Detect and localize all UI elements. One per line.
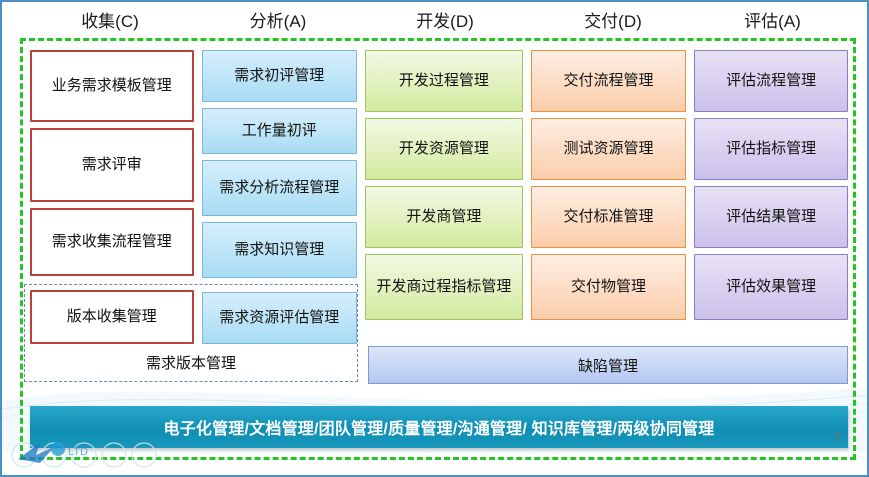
column-header-assess: 评估(A) [696, 8, 849, 36]
column-headers: 收集(C) 分析(A) 开发(D) 交付(D) 评估(A) [24, 8, 849, 36]
column-collect: 业务需求模板管理 需求评审 需求收集流程管理 版本收集管理 [30, 50, 194, 390]
card-develop-0[interactable]: 开发过程管理 [365, 50, 523, 112]
card-develop-1[interactable]: 开发资源管理 [365, 118, 523, 180]
card-analyze-0[interactable]: 需求初评管理 [202, 50, 358, 102]
defect-management-bar[interactable]: 缺陷管理 [368, 346, 848, 384]
column-analyze: 需求初评管理 工作量初评 需求分析流程管理 需求知识管理 需求资源评估管理 [202, 50, 358, 390]
foundation-banner: 电子化管理/文档管理/团队管理/质量管理/沟通管理/ 知识库管理/两级协同管理 [30, 406, 848, 448]
card-assess-3[interactable]: 评估效果管理 [694, 254, 848, 320]
capability-board: 业务需求模板管理 需求评审 需求收集流程管理 版本收集管理 需求初评管理 工作量… [30, 50, 848, 390]
card-collect-3[interactable]: 版本收集管理 [30, 290, 194, 344]
card-analyze-3[interactable]: 需求知识管理 [202, 222, 358, 278]
card-develop-3[interactable]: 开发商过程指标管理 [365, 254, 523, 320]
card-collect-0[interactable]: 业务需求模板管理 [30, 50, 194, 122]
card-deliver-0[interactable]: 交付流程管理 [531, 50, 687, 112]
card-analyze-1[interactable]: 工作量初评 [202, 108, 358, 154]
column-header-analyze: 分析(A) [196, 8, 360, 36]
version-management-group-label: 需求版本管理 [24, 347, 358, 377]
column-assess: 评估流程管理 评估指标管理 评估结果管理 评估效果管理 [694, 50, 848, 390]
column-header-deliver: 交付(D) [530, 8, 696, 36]
card-deliver-3[interactable]: 交付物管理 [531, 254, 687, 320]
column-header-develop: 开发(D) [360, 8, 530, 36]
card-collect-1[interactable]: 需求评审 [30, 128, 194, 202]
column-header-collect: 收集(C) [24, 8, 196, 36]
card-assess-1[interactable]: 评估指标管理 [694, 118, 848, 180]
card-assess-2[interactable]: 评估结果管理 [694, 186, 848, 248]
column-develop: 开发过程管理 开发资源管理 开发商管理 开发商过程指标管理 [365, 50, 523, 390]
page-number: 7 [833, 430, 841, 447]
card-assess-0[interactable]: 评估流程管理 [694, 50, 848, 112]
column-deliver: 交付流程管理 测试资源管理 交付标准管理 交付物管理 [531, 50, 687, 390]
card-analyze-2[interactable]: 需求分析流程管理 [202, 160, 358, 216]
card-deliver-2[interactable]: 交付标准管理 [531, 186, 687, 248]
card-develop-2[interactable]: 开发商管理 [365, 186, 523, 248]
card-collect-2[interactable]: 需求收集流程管理 [30, 208, 194, 276]
card-analyze-4[interactable]: 需求资源评估管理 [202, 292, 358, 344]
slide-canvas: 收集(C) 分析(A) 开发(D) 交付(D) 评估(A) 业务需求模板管理 需… [0, 0, 869, 477]
card-deliver-1[interactable]: 测试资源管理 [531, 118, 687, 180]
foundation-banner-text: 电子化管理/文档管理/团队管理/质量管理/沟通管理/ 知识库管理/两级协同管理 [164, 415, 715, 439]
